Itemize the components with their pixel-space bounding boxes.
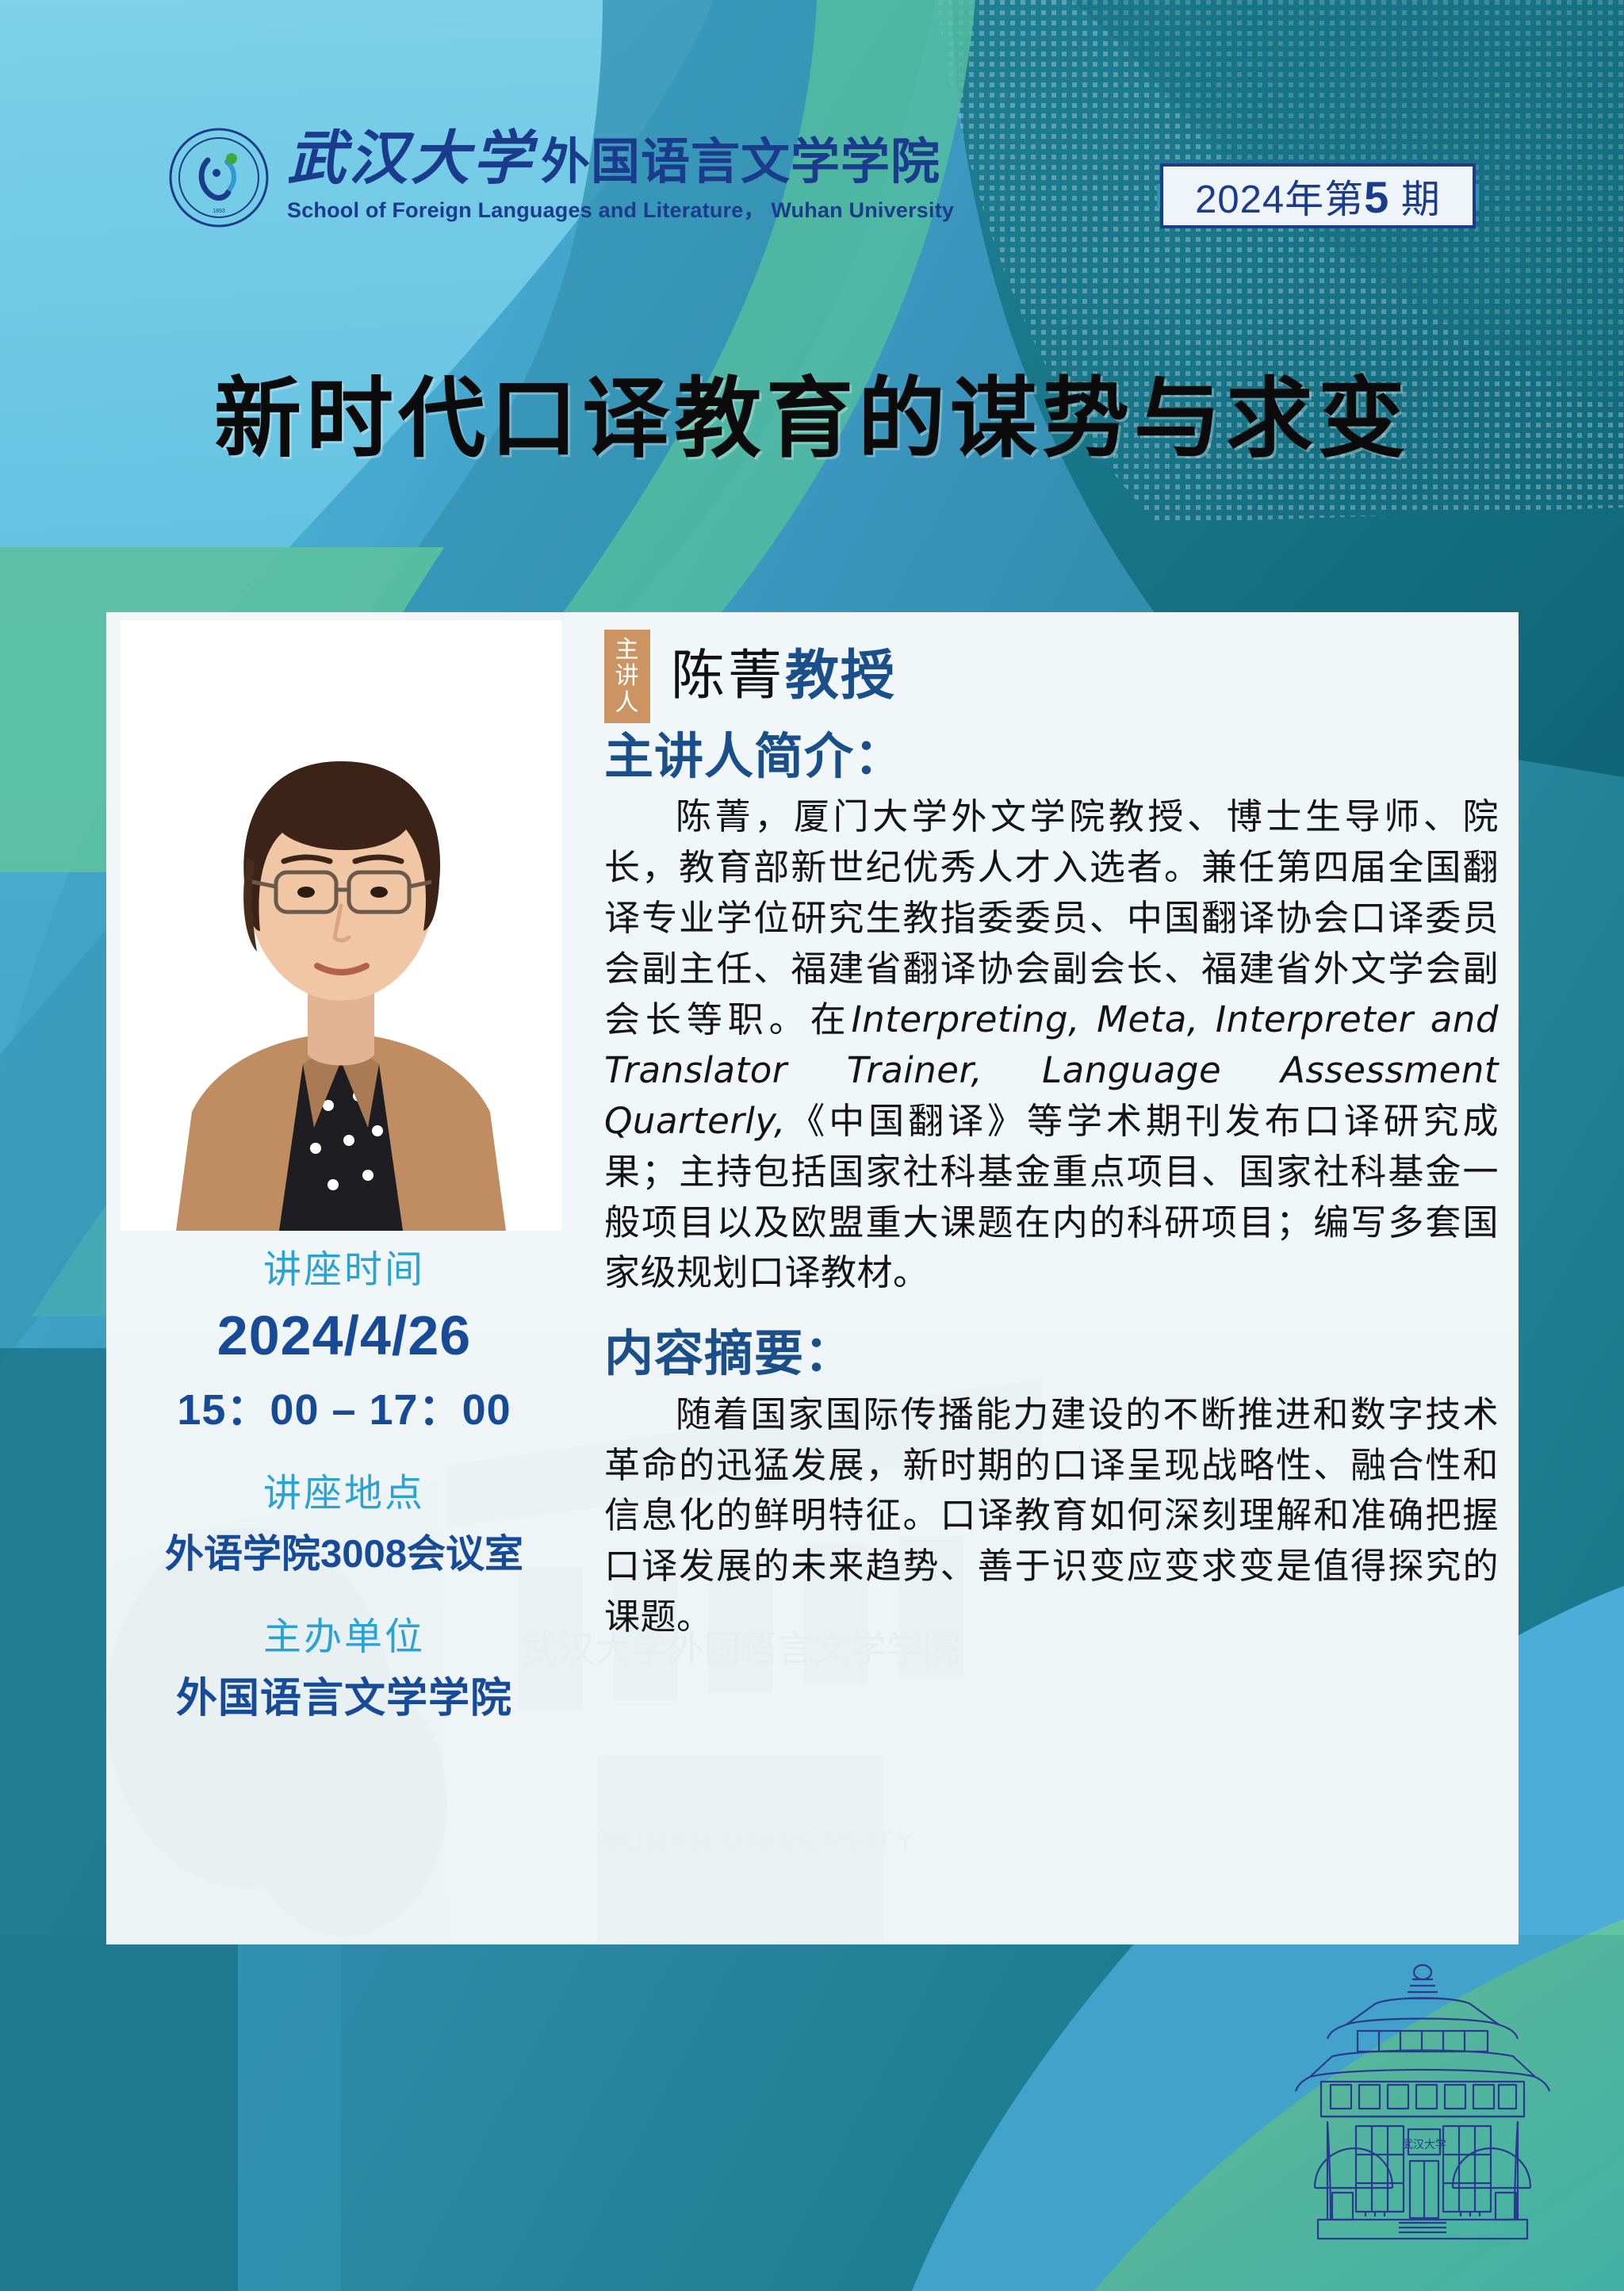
issue-prefix: 2024年第 — [1195, 178, 1364, 221]
speaker-name-row: 陈菁教授 — [671, 630, 896, 710]
issue-number: 5 — [1364, 172, 1389, 222]
abstract-text: 随着国家国际传播能力建设的不断推进和数字技术革命的迅猛发展，新时期的口译呈现战略… — [604, 1389, 1499, 1642]
speaker-rank: 教授 — [785, 646, 896, 706]
event-venue: 外语学院3008会议室 — [106, 1532, 582, 1576]
university-seal-icon: 1893 — [168, 127, 270, 228]
event-details: 讲座时间 2024/4/26 15：00 – 17：00 讲座地点 外语学院30… — [106, 1247, 582, 1723]
content-column: 主 讲 人 陈菁教授 主讲人简介： 陈菁，厦门大学外文学院教授、博士生导师、院长… — [604, 630, 1499, 1642]
issue-suffix: 期 — [1401, 178, 1441, 221]
event-host: 外国语言文学学院 — [106, 1676, 582, 1723]
wuhan-university-building-icon: 武汉大学 — [1280, 1958, 1565, 2243]
speaker-tag: 主 讲 人 — [604, 630, 650, 723]
time-label: 讲座时间 — [106, 1247, 582, 1294]
issue-badge: 2024年第5 期 — [1160, 163, 1476, 228]
speaker-name: 陈菁 — [671, 645, 785, 707]
event-time: 15：00 – 17：00 — [106, 1387, 582, 1434]
host-label: 主办单位 — [106, 1614, 582, 1661]
event-date: 2024/4/26 — [106, 1305, 582, 1366]
speaker-portrait — [121, 620, 561, 1231]
speaker-tag-char-2: 讲 — [615, 663, 640, 690]
venue-label: 讲座地点 — [106, 1470, 582, 1518]
abstract-heading: 内容摘要： — [604, 1325, 1499, 1384]
page-title: 新时代口译教育的谋势与求变 — [0, 347, 1624, 474]
content-card: 武汉大学外国语言文学学院 WUHAN UNIVERSITY — [106, 612, 1519, 1944]
building-plaque-text: 武汉大学 — [1402, 2139, 1446, 2151]
speaker-row: 主 讲 人 陈菁教授 — [604, 630, 1499, 725]
svg-text:1893: 1893 — [213, 209, 225, 214]
speaker-tag-char-1: 主 — [615, 637, 640, 664]
speaker-tag-char-3: 人 — [615, 690, 640, 717]
bio-text: 陈菁，厦门大学外文学院教授、博士生导师、院长，教育部新世纪优秀人才入选者。兼任第… — [604, 791, 1499, 1298]
school-logo: 1893 武汉大学 外国语言文学学院 School of Foreign Lan… — [168, 127, 954, 228]
logo-english-name: School of Foreign Languages and Literatu… — [287, 193, 954, 224]
logo-school-name: 外国语言文学学院 — [541, 138, 940, 187]
svg-text:WUHAN UNIVERSITY: WUHAN UNIVERSITY — [596, 1826, 917, 1856]
logo-university-name: 武汉大学 — [287, 132, 534, 187]
poster-root: 1893 武汉大学 外国语言文学学院 School of Foreign Lan… — [0, 0, 1624, 2291]
bio-heading: 主讲人简介： — [604, 728, 1499, 787]
badge-plate: 2024年第5 期 — [1160, 163, 1476, 228]
